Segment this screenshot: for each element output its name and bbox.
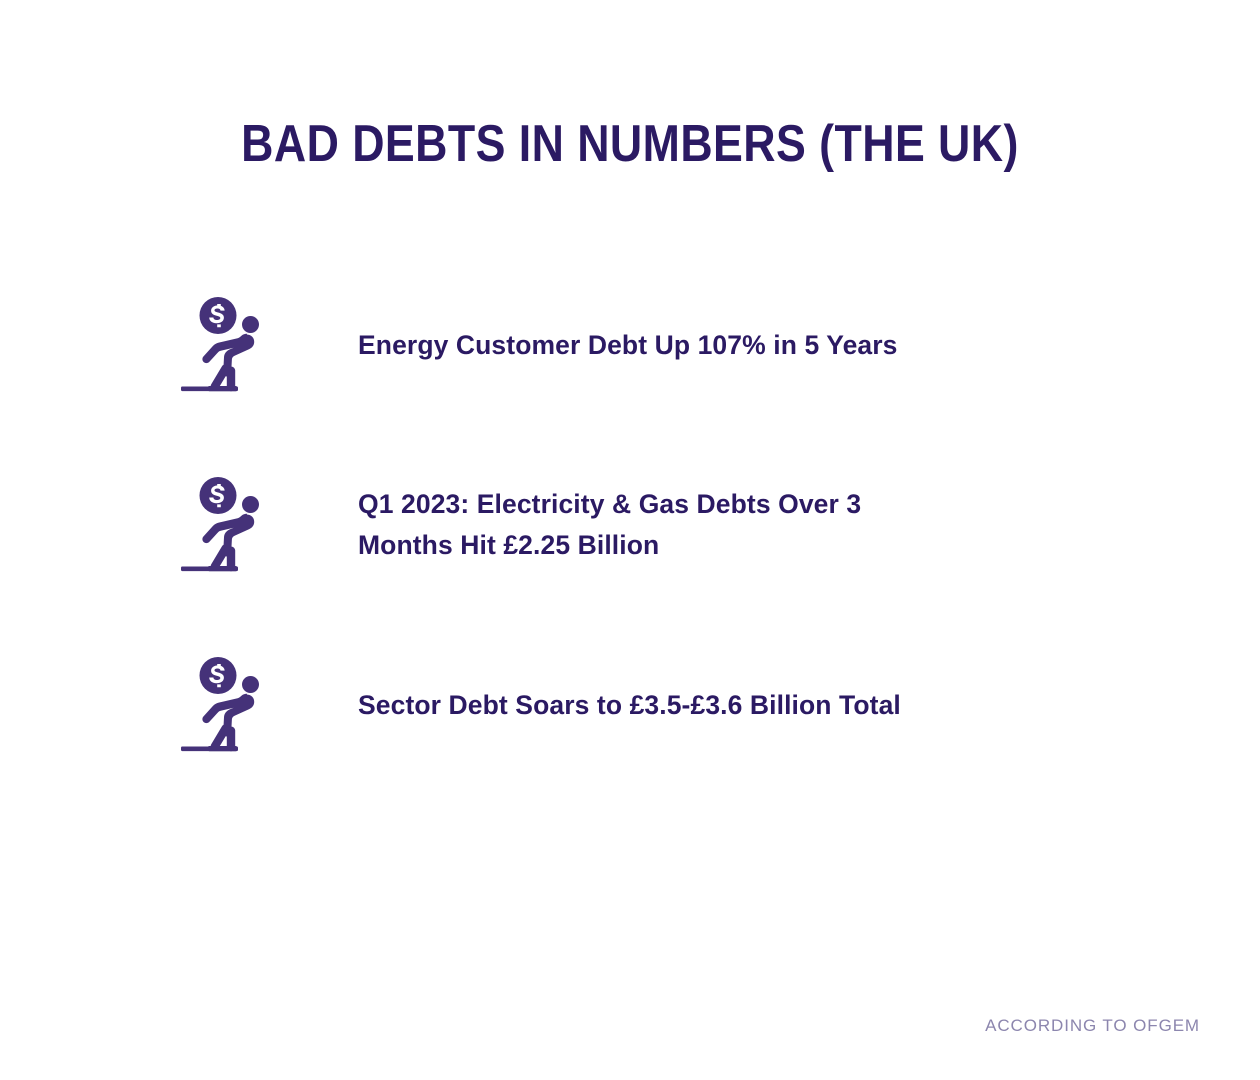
- person-carrying-money-bag-icon: [180, 656, 272, 754]
- fact-text: Sector Debt Soars to £3.5-£3.6 Billion T…: [358, 685, 958, 726]
- fact-text: Energy Customer Debt Up 107% in 5 Years: [358, 325, 958, 366]
- list-item: Q1 2023: Electricity & Gas Debts Over 3 …: [0, 435, 1260, 615]
- source-attribution: ACCORDING TO OFGEM: [985, 1016, 1200, 1036]
- fact-icon-slot: [180, 656, 280, 754]
- fact-list: Energy Customer Debt Up 107% in 5 Years …: [0, 255, 1260, 795]
- list-item: Energy Customer Debt Up 107% in 5 Years: [0, 255, 1260, 435]
- fact-icon-slot: [180, 296, 280, 394]
- fact-icon-slot: [180, 476, 280, 574]
- list-item: Sector Debt Soars to £3.5-£3.6 Billion T…: [0, 615, 1260, 795]
- page-title: BAD DEBTS IN NUMBERS (THE UK): [88, 113, 1172, 175]
- fact-text: Q1 2023: Electricity & Gas Debts Over 3 …: [358, 484, 958, 566]
- person-carrying-money-bag-icon: [180, 296, 272, 394]
- person-carrying-money-bag-icon: [180, 476, 272, 574]
- infographic-canvas: BAD DEBTS IN NUMBERS (THE UK) Energy Cus…: [0, 0, 1260, 1080]
